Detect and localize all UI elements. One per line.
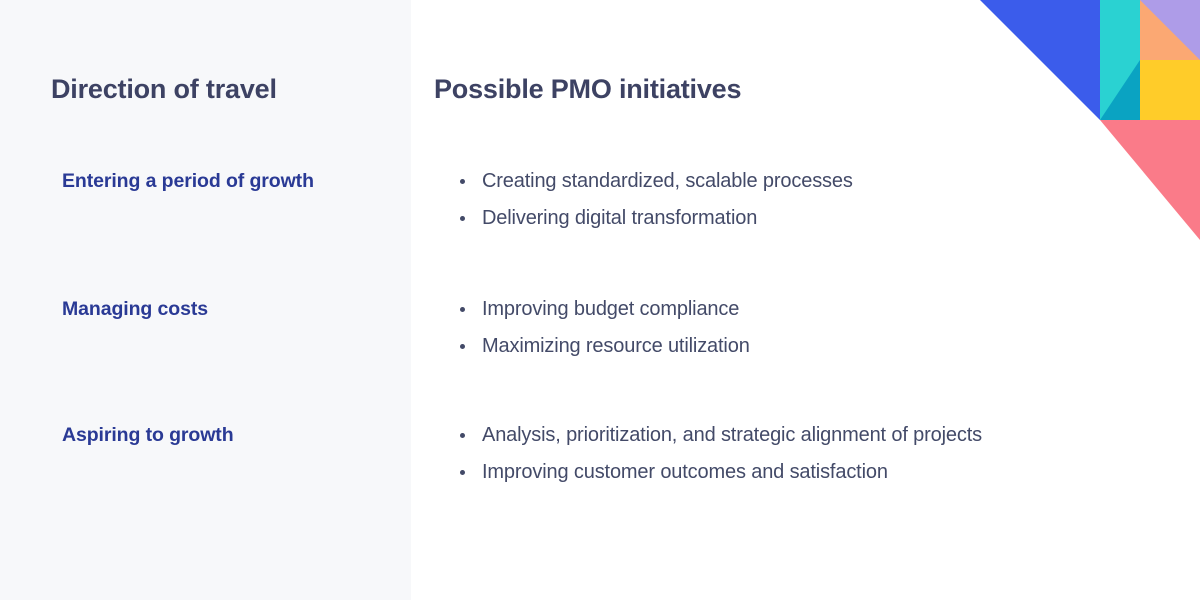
list-item: Creating standardized, scalable processe…: [450, 163, 1150, 200]
slide-canvas: Direction of travel Possible PMO initiat…: [0, 0, 1200, 600]
teal-triangle-shape: [1100, 0, 1140, 120]
row-label-entering-a-period-of-growth: Entering a period of growth: [62, 163, 362, 200]
yellow-square-shape: [1140, 60, 1200, 120]
row-label-aspiring-to-growth: Aspiring to growth: [62, 417, 362, 454]
row-label-managing-costs: Managing costs: [62, 291, 362, 328]
list-item: Improving budget compliance: [450, 291, 1150, 328]
list-item: Analysis, prioritization, and strategic …: [450, 417, 1150, 454]
list-item: Improving customer outcomes and satisfac…: [450, 454, 1150, 491]
initiatives-list-row-1: Creating standardized, scalable processe…: [450, 163, 1150, 237]
orange-parallelogram-shape-2: [1100, 0, 1200, 120]
initiatives-list-row-2: Improving budget compliance Maximizing r…: [450, 291, 1150, 365]
page-title-possible-pmo-initiatives: Possible PMO initiatives: [434, 74, 741, 105]
page-title-direction-of-travel: Direction of travel: [51, 74, 277, 105]
purple-triangle-shape-2: [1140, 0, 1200, 60]
blue-triangle-shape: [980, 0, 1100, 120]
dark-teal-triangle-shape: [1100, 60, 1140, 120]
initiatives-list-row-3: Analysis, prioritization, and strategic …: [450, 417, 1150, 491]
list-item: Maximizing resource utilization: [450, 328, 1150, 365]
teal-triangle-shape-2: [1100, 0, 1140, 120]
orange-parallelogram-shape: [1100, 0, 1170, 40]
purple-triangle-shape: [1170, 0, 1200, 30]
list-item: Delivering digital transformation: [450, 200, 1150, 237]
